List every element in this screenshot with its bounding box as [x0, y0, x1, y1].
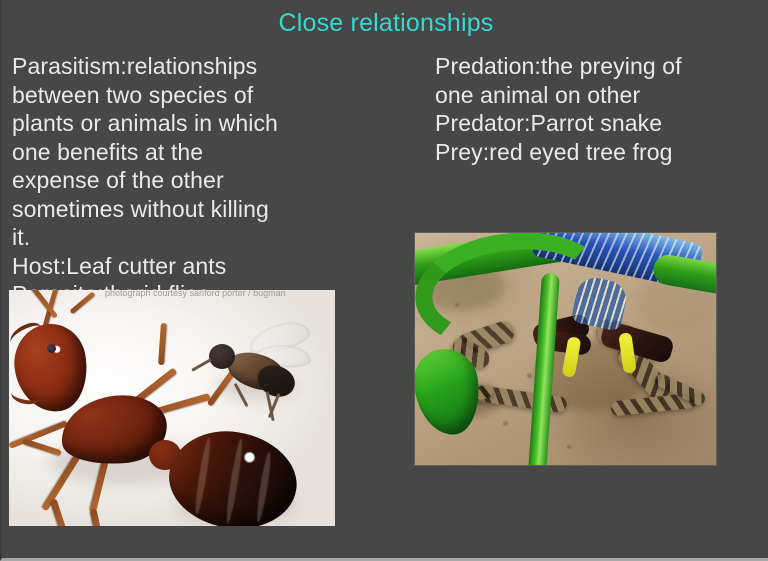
gaster-band — [193, 437, 212, 515]
ground-speck — [503, 421, 508, 426]
ground-speck — [567, 445, 571, 449]
parrot-snake-predation-photo — [414, 232, 717, 466]
left-text-line: Host:Leaf cutter ants — [12, 252, 332, 281]
photo-credit-watermark: photograph courtesy sanford porter / bug… — [105, 288, 325, 299]
phorid-fly — [205, 334, 313, 418]
fly-leg — [234, 383, 249, 407]
right-text-line: one animal on other — [435, 81, 765, 110]
left-text-line: it. — [12, 223, 332, 252]
predation-text-block: Predation:the preying of one animal on o… — [435, 52, 765, 166]
left-text-line: sometimes without killing — [12, 195, 332, 224]
right-text-line: Predator:Parrot snake — [435, 109, 765, 138]
left-text-line: Parasitism:relationships — [12, 52, 332, 81]
left-text-line: expense of the other — [12, 166, 332, 195]
page-title: Close relationships — [2, 8, 768, 38]
ant-eye — [47, 344, 56, 353]
presentation-slide: Close relationships Parasitism:relations… — [0, 0, 768, 561]
leaf-cutter-ant-photo — [9, 290, 335, 526]
left-text-line: one benefits at the — [12, 138, 332, 167]
ground-speck — [527, 373, 532, 378]
gaster-band — [224, 438, 244, 524]
fly-head — [209, 344, 235, 369]
right-text-line: Predation:the preying of — [435, 52, 765, 81]
right-text-line: Prey:red eyed tree frog — [435, 138, 765, 167]
parasitism-text-block: Parasitism:relationships between two spe… — [12, 52, 332, 309]
left-text-line: between two species of — [12, 81, 332, 110]
left-text-line: plants or animals in which — [12, 109, 332, 138]
gaster-band — [255, 451, 273, 523]
